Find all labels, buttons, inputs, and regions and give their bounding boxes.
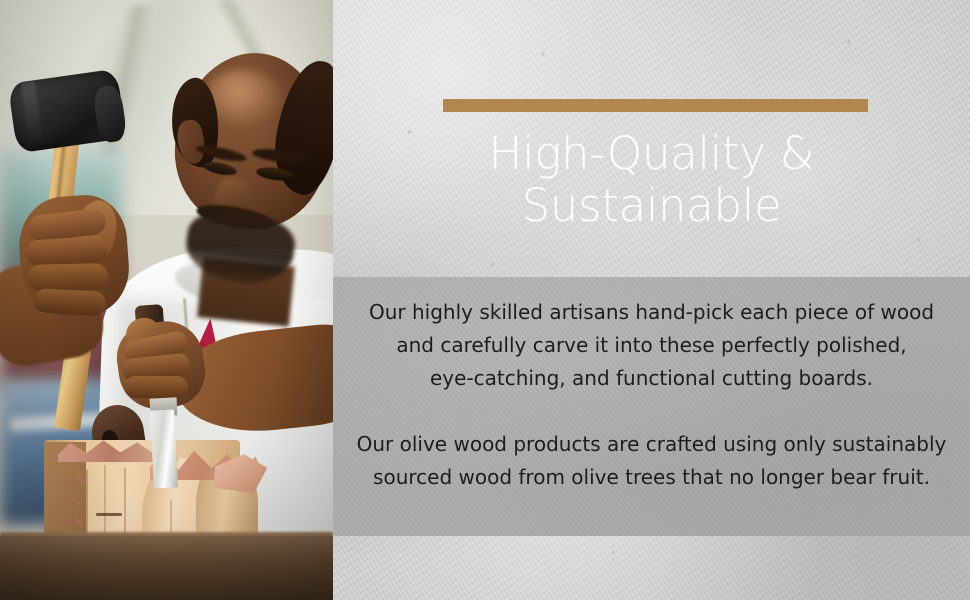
body-paragraph-1-line-1: Our highly skilled artisans hand-pick ea… — [333, 296, 970, 329]
body-copy: Our highly skilled artisans hand-pick ea… — [333, 296, 970, 494]
headline-line-1: High-Quality & — [489, 127, 815, 180]
paragraph-spacer — [333, 395, 970, 428]
body-paragraph-2-line-1: Our olive wood products are crafted usin… — [333, 428, 970, 461]
body-paragraph-1-line-3: eye-catching, and functional cutting boa… — [333, 362, 970, 395]
photo-vignette — [0, 0, 333, 600]
headline-line-2: Sustainable — [333, 180, 970, 232]
product-feature-banner: MA — [0, 0, 970, 600]
body-paragraph-1-line-2: and carefully carve it into these perfec… — [333, 329, 970, 362]
accent-bar — [443, 99, 868, 112]
content-panel: High-Quality & Sustainable Our highly sk… — [333, 0, 970, 600]
page-title: High-Quality & Sustainable — [333, 128, 970, 232]
artisan-photo: MA — [0, 0, 333, 600]
body-paragraph-2-line-2: sourced wood from olive trees that no lo… — [333, 461, 970, 494]
